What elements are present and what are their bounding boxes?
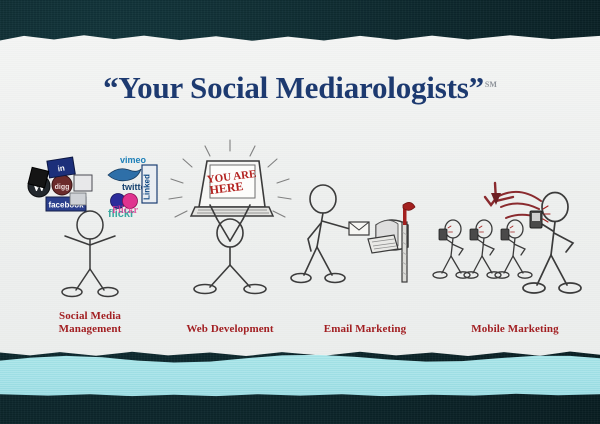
- laptop-icon: YOU ARE HERE: [191, 161, 273, 216]
- service-mark: SM: [485, 80, 497, 89]
- service-caption-email-marketing: Email Marketing: [285, 323, 445, 336]
- service-mobile-marketing[interactable]: Mobile Marketing: [430, 135, 600, 335]
- services-row: facebook W digg in vimeo: [0, 135, 600, 335]
- mailbox-stick-figure-svg: [290, 177, 440, 297]
- headline-text: “Your Social Mediarologists”: [103, 70, 484, 105]
- cyan-torn-strip: [0, 352, 600, 400]
- illustration-mobile-marketing: [430, 157, 600, 297]
- caption-line-1: Email Marketing: [285, 323, 445, 336]
- svg-text:vimeo: vimeo: [120, 155, 147, 165]
- small-figure-2: [464, 220, 501, 278]
- svg-text:digg: digg: [55, 184, 70, 191]
- page-title: “Your Social Mediarologists”SM: [0, 72, 600, 103]
- envelope-icon: [349, 222, 369, 235]
- caption-line-1: Mobile Marketing: [430, 323, 600, 336]
- illustration-email-marketing: [285, 177, 445, 297]
- mobile-broadcast-stick-figures-svg: [433, 157, 598, 297]
- small-figure-3: [495, 220, 532, 278]
- svg-text:in: in: [57, 163, 66, 173]
- service-caption-mobile-marketing: Mobile Marketing: [430, 323, 600, 336]
- social-logos-stick-figure-svg: facebook W digg in vimeo: [10, 147, 170, 297]
- mailbox-flag-icon: [403, 202, 415, 210]
- svg-text:Flickr: Flickr: [112, 205, 139, 216]
- service-email-marketing[interactable]: Email Marketing: [285, 135, 445, 335]
- mailbox-icon: [368, 202, 415, 282]
- laptop-overhead-stick-figure-svg: YOU ARE HERE: [155, 137, 305, 297]
- small-figure-1: [433, 220, 470, 278]
- phone-icon-large: [530, 206, 550, 228]
- logo-cluster-left: facebook W digg in: [28, 157, 92, 211]
- slide-canvas: “Your Social Mediarologists”SM: [0, 0, 600, 424]
